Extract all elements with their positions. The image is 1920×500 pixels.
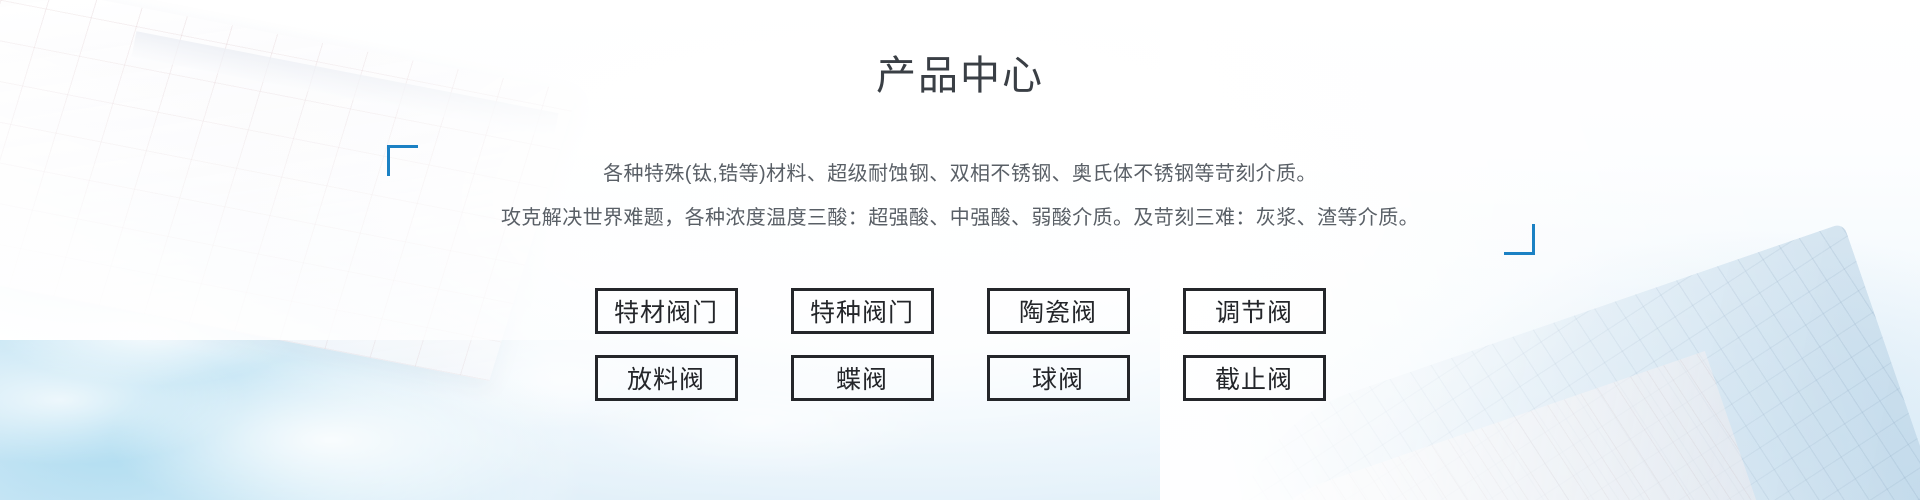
description-block: 各种特殊(钛,锆等)材料、超级耐蚀钢、双相不锈钢、奥氏体不锈钢等苛刻介质。 攻克… (380, 145, 1540, 255)
category-button-grid: 特材阀门 特种阀门 陶瓷阀 调节阀 放料阀 蝶阀 球阀 截止阀 (0, 288, 1920, 422)
category-button-globe-valve[interactable]: 截止阀 (1183, 355, 1326, 401)
corner-bracket-top-left-icon (387, 145, 418, 176)
category-button-special-valve[interactable]: 特种阀门 (791, 288, 934, 334)
category-row-2: 放料阀 蝶阀 球阀 截止阀 (0, 355, 1920, 401)
page-title: 产品中心 (0, 50, 1920, 102)
description-line-2: 攻克解决世界难题，各种浓度温度三酸：超强酸、中强酸、弱酸介质。及苛刻三难：灰浆、… (380, 196, 1540, 240)
product-center-banner: 产品中心 各种特殊(钛,锆等)材料、超级耐蚀钢、双相不锈钢、奥氏体不锈钢等苛刻介… (0, 0, 1920, 500)
category-button-ball-valve[interactable]: 球阀 (987, 355, 1130, 401)
description-line-1: 各种特殊(钛,锆等)材料、超级耐蚀钢、双相不锈钢、奥氏体不锈钢等苛刻介质。 (380, 152, 1540, 196)
category-button-techai-valve[interactable]: 特材阀门 (595, 288, 738, 334)
corner-bracket-bottom-right-icon (1504, 224, 1535, 255)
category-button-butterfly-valve[interactable]: 蝶阀 (791, 355, 934, 401)
category-button-discharge-valve[interactable]: 放料阀 (595, 355, 738, 401)
category-row-1: 特材阀门 特种阀门 陶瓷阀 调节阀 (0, 288, 1920, 334)
category-button-control-valve[interactable]: 调节阀 (1183, 288, 1326, 334)
banner-content: 产品中心 各种特殊(钛,锆等)材料、超级耐蚀钢、双相不锈钢、奥氏体不锈钢等苛刻介… (0, 0, 1920, 500)
category-button-ceramic-valve[interactable]: 陶瓷阀 (987, 288, 1130, 334)
